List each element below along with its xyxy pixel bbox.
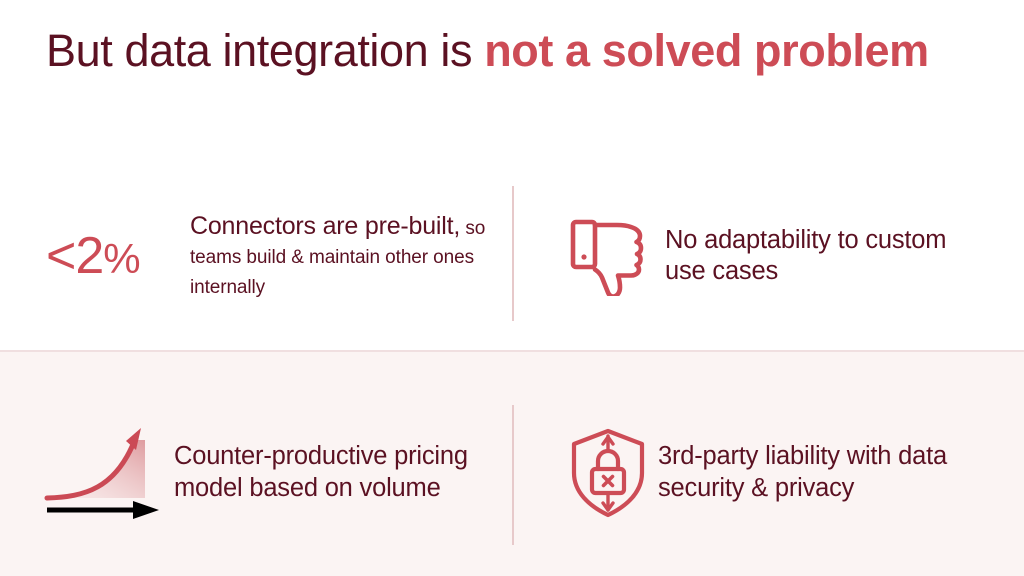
page-title: But data integration is not a solved pro…	[46, 22, 966, 79]
point-headline-pricing: Counter-productive pricing model based o…	[174, 441, 504, 503]
point-text-connectors: Connectors are pre-built, so teams build…	[190, 212, 510, 301]
point-third-party-liability: 3rd-party liability with data security &…	[558, 400, 1018, 545]
point-counter-productive-pricing: Counter-productive pricing model based o…	[34, 400, 514, 545]
page-title-plain: But data integration is	[46, 25, 484, 76]
stat-value: <2	[46, 227, 103, 285]
exponential-growth-chart-icon	[34, 423, 174, 523]
point-no-adaptability: No adaptability to custom use cases	[555, 186, 1015, 326]
page-title-accent: not a solved problem	[484, 25, 929, 76]
point-connectors-prebuilt: <2% Connectors are pre-built, so teams b…	[40, 186, 515, 326]
point-headline-connectors: Connectors are pre-built,	[190, 212, 460, 240]
point-headline-no-adaptability: No adaptability to custom use cases	[665, 225, 965, 287]
stat-percent-sign: %	[103, 235, 139, 282]
thumbs-down-icon	[555, 209, 665, 304]
slide-root: But data integration is not a solved pro…	[0, 0, 1024, 576]
point-headline-liability: 3rd-party liability with data security &…	[658, 441, 1008, 503]
horizontal-divider	[0, 350, 1024, 352]
stat-percent: <2%	[40, 230, 190, 282]
shield-lock-icon	[558, 423, 658, 523]
